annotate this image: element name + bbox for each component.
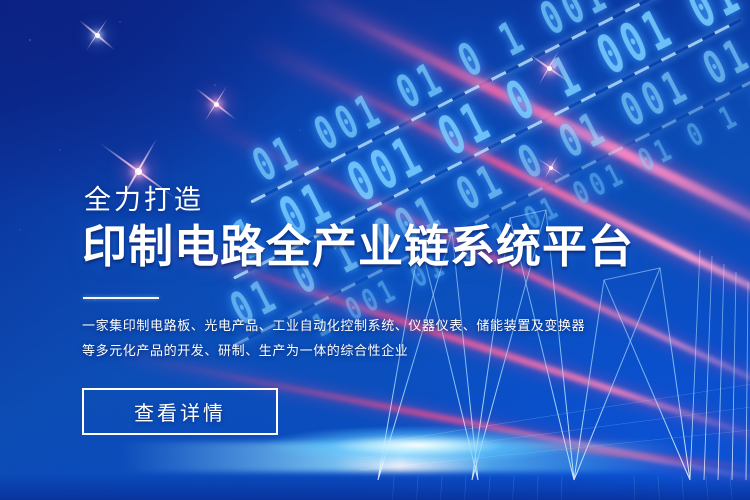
sparkle-icon [186, 74, 246, 134]
binary-stream-1: 01 001 01 0 1 001 01 001 0 1 01 001 01 [245, 0, 750, 193]
hero-banner: 01 001 01 0 1 001 01 001 0 1 01 001 01 1… [0, 0, 750, 500]
data-dash-line-1 [250, 0, 715, 203]
sparkle-icon [521, 40, 577, 96]
hero-divider [83, 297, 159, 299]
hero-headline: 印制电路全产业链系统平台 [82, 222, 602, 272]
hero-eyebrow: 全力打造 [84, 186, 602, 216]
hero-description-line-2: 等多元化产品的开发、研制、生产为一体的综合性企业 [82, 338, 602, 363]
hero-description: 一家集印制电路板、光电产品、工业自动化控制系统、仪器仪表、储能装置及变换器 等多… [82, 313, 602, 363]
sparkle-icon [70, 8, 124, 62]
hero-content: 全力打造 印制电路全产业链系统平台 一家集印制电路板、光电产品、工业自动化控制系… [82, 186, 602, 435]
view-details-button[interactable]: 查看详情 [82, 388, 278, 435]
bottom-gradient-band [0, 474, 750, 500]
hero-description-line-1: 一家集印制电路板、光电产品、工业自动化控制系统、仪器仪表、储能装置及变换器 [82, 313, 602, 338]
